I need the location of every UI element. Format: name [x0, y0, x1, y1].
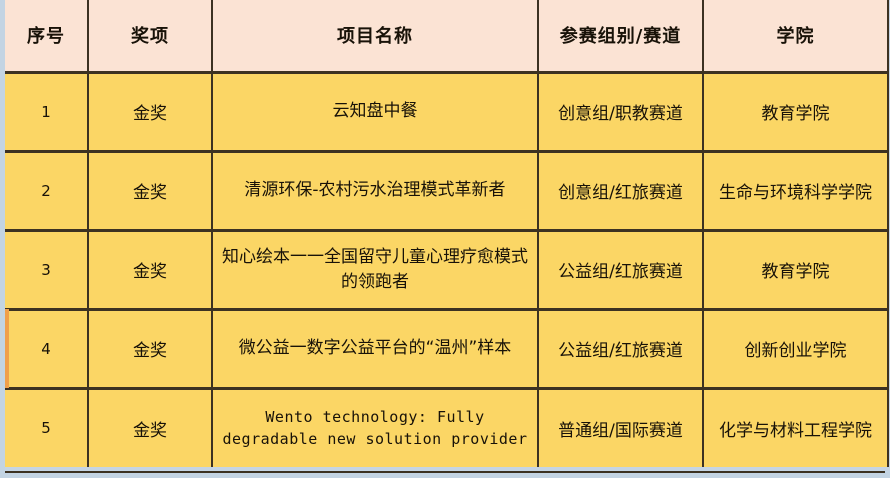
table-screen: 序号 奖项 项目名称 参赛组别/赛道 学院 1金奖云知盘中餐创意组/职教赛道教育…: [0, 0, 890, 478]
college-text: 教育学院: [708, 257, 883, 282]
award-text: 金奖: [93, 178, 207, 203]
project-name-text: 知心绘本一一全国留守儿童心理疗愈模式的领跑者: [217, 245, 533, 293]
cell-index: 4: [5, 309, 88, 388]
index-text: 5: [41, 419, 51, 437]
cell-award: 金奖: [88, 72, 212, 151]
college-text: 创新创业学院: [708, 336, 883, 361]
table-header-row: 序号 奖项 项目名称 参赛组别/赛道 学院: [5, 0, 888, 72]
project-name-text: 清源环保-农村污水治理模式革新者: [217, 178, 533, 202]
index-text: 3: [41, 261, 51, 279]
column-header-group[interactable]: 参赛组别/赛道: [538, 0, 703, 72]
group-track-text: 普通组/国际赛道: [543, 416, 698, 441]
cell-project: 知心绘本一一全国留守儿童心理疗愈模式的领跑者: [212, 230, 538, 309]
cell-college: 创新创业学院: [703, 309, 888, 388]
table-bottom-border: [5, 471, 885, 473]
cell-index: 1: [5, 72, 88, 151]
cell-project: 云知盘中餐: [212, 72, 538, 151]
cell-award: 金奖: [88, 388, 212, 467]
cell-college: 生命与环境科学学院: [703, 151, 888, 230]
index-text: 2: [41, 182, 51, 200]
award-text: 金奖: [93, 336, 207, 361]
cell-college: 教育学院: [703, 72, 888, 151]
table-row[interactable]: 3金奖知心绘本一一全国留守儿童心理疗愈模式的领跑者公益组/红旅赛道教育学院: [5, 230, 888, 309]
column-header-project[interactable]: 项目名称: [212, 0, 538, 72]
group-track-text: 公益组/红旅赛道: [543, 336, 698, 361]
column-header-college[interactable]: 学院: [703, 0, 888, 72]
table-row[interactable]: 2金奖清源环保-农村污水治理模式革新者创意组/红旅赛道生命与环境科学学院: [5, 151, 888, 230]
cell-group: 创意组/红旅赛道: [538, 151, 703, 230]
cell-award: 金奖: [88, 309, 212, 388]
college-text: 化学与材料工程学院: [708, 416, 883, 441]
cell-project: 清源环保-农村污水治理模式革新者: [212, 151, 538, 230]
cell-award: 金奖: [88, 230, 212, 309]
column-header-award[interactable]: 奖项: [88, 0, 212, 72]
cell-college: 教育学院: [703, 230, 888, 309]
row-selection-accent: [5, 309, 9, 388]
cell-group: 公益组/红旅赛道: [538, 309, 703, 388]
table-row[interactable]: 5金奖Wento technology: Fully degradable ne…: [5, 388, 888, 467]
index-text: 4: [41, 340, 51, 358]
cell-index: 2: [5, 151, 88, 230]
project-name-text: 微公益一数字公益平台的“温州”样本: [217, 336, 533, 360]
cell-award: 金奖: [88, 151, 212, 230]
award-list-table: 序号 奖项 项目名称 参赛组别/赛道 学院 1金奖云知盘中餐创意组/职教赛道教育…: [5, 0, 889, 467]
group-track-text: 创意组/职教赛道: [543, 99, 698, 124]
cell-project: Wento technology: Fully degradable new s…: [212, 388, 538, 467]
cell-project: 微公益一数字公益平台的“温州”样本: [212, 309, 538, 388]
college-text: 教育学院: [708, 99, 883, 124]
left-edge-gutter: [0, 0, 5, 478]
table-header: 序号 奖项 项目名称 参赛组别/赛道 学院: [5, 0, 888, 72]
column-header-index[interactable]: 序号: [5, 0, 88, 72]
cell-group: 创意组/职教赛道: [538, 72, 703, 151]
index-text: 1: [41, 103, 51, 121]
cell-index: 3: [5, 230, 88, 309]
award-text: 金奖: [93, 257, 207, 282]
project-name-text: 云知盘中餐: [217, 99, 533, 123]
table-row[interactable]: 1金奖云知盘中餐创意组/职教赛道教育学院: [5, 72, 888, 151]
cell-index: 5: [5, 388, 88, 467]
table-body: 1金奖云知盘中餐创意组/职教赛道教育学院2金奖清源环保-农村污水治理模式革新者创…: [5, 72, 888, 467]
group-track-text: 创意组/红旅赛道: [543, 178, 698, 203]
table-row[interactable]: 4金奖微公益一数字公益平台的“温州”样本公益组/红旅赛道创新创业学院: [5, 309, 888, 388]
cell-group: 公益组/红旅赛道: [538, 230, 703, 309]
group-track-text: 公益组/红旅赛道: [543, 257, 698, 282]
award-text: 金奖: [93, 99, 207, 124]
cell-group: 普通组/国际赛道: [538, 388, 703, 467]
project-name-text: Wento technology: Fully degradable new s…: [217, 406, 533, 451]
cell-college: 化学与材料工程学院: [703, 388, 888, 467]
college-text: 生命与环境科学学院: [708, 178, 883, 203]
award-text: 金奖: [93, 416, 207, 441]
